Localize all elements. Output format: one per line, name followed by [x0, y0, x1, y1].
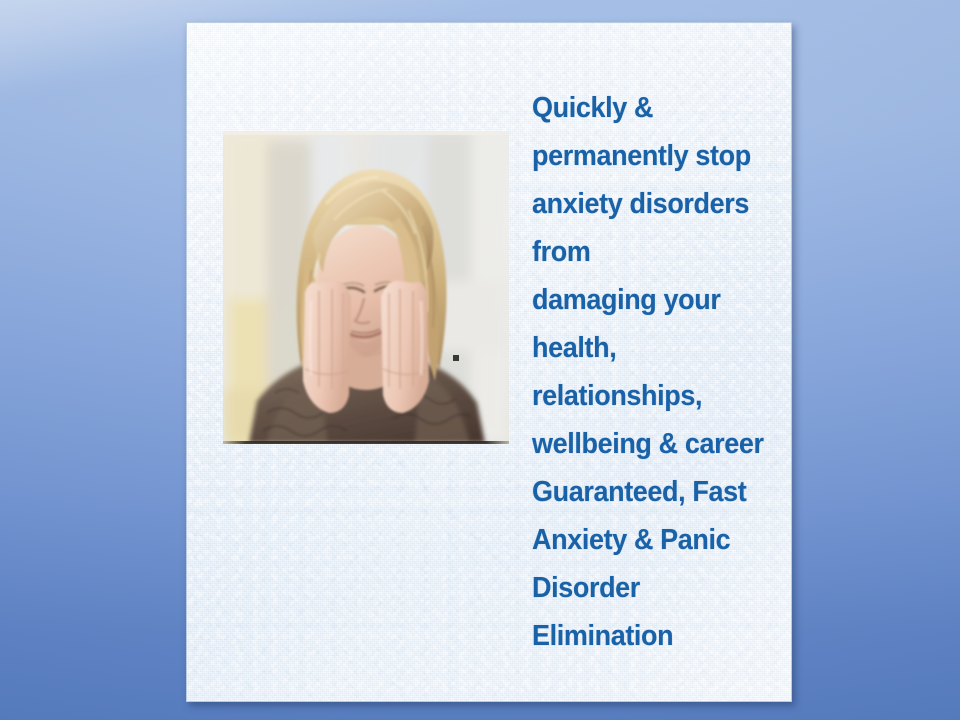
headline-line: damaging your — [532, 276, 765, 324]
presentation-slide: Quickly & permanently stop anxiety disor… — [186, 22, 792, 702]
slide-canvas: Quickly & permanently stop anxiety disor… — [0, 0, 960, 720]
headline-line: permanently stop — [532, 132, 765, 180]
headline-line: Guaranteed, Fast — [532, 468, 765, 516]
photo-period-mark — [453, 355, 459, 361]
headline-line: relationships, — [532, 372, 765, 420]
photo-bottom-edge — [223, 441, 509, 444]
anxiety-photo-frame — [223, 131, 509, 443]
headline-line: wellbeing & career — [532, 420, 765, 468]
headline-line: Quickly & — [532, 84, 765, 132]
headline-line: from — [532, 228, 765, 276]
headline-line: Elimination — [532, 612, 765, 660]
headline-line: anxiety disorders — [532, 180, 765, 228]
anxiety-photo-illustration — [223, 131, 509, 443]
headline-text-block: Quickly & permanently stop anxiety disor… — [532, 84, 782, 660]
headline-line: health, — [532, 324, 765, 372]
anxiety-photo — [223, 131, 509, 443]
headline-line: Anxiety & Panic — [532, 516, 765, 564]
headline-line: Disorder — [532, 564, 765, 612]
